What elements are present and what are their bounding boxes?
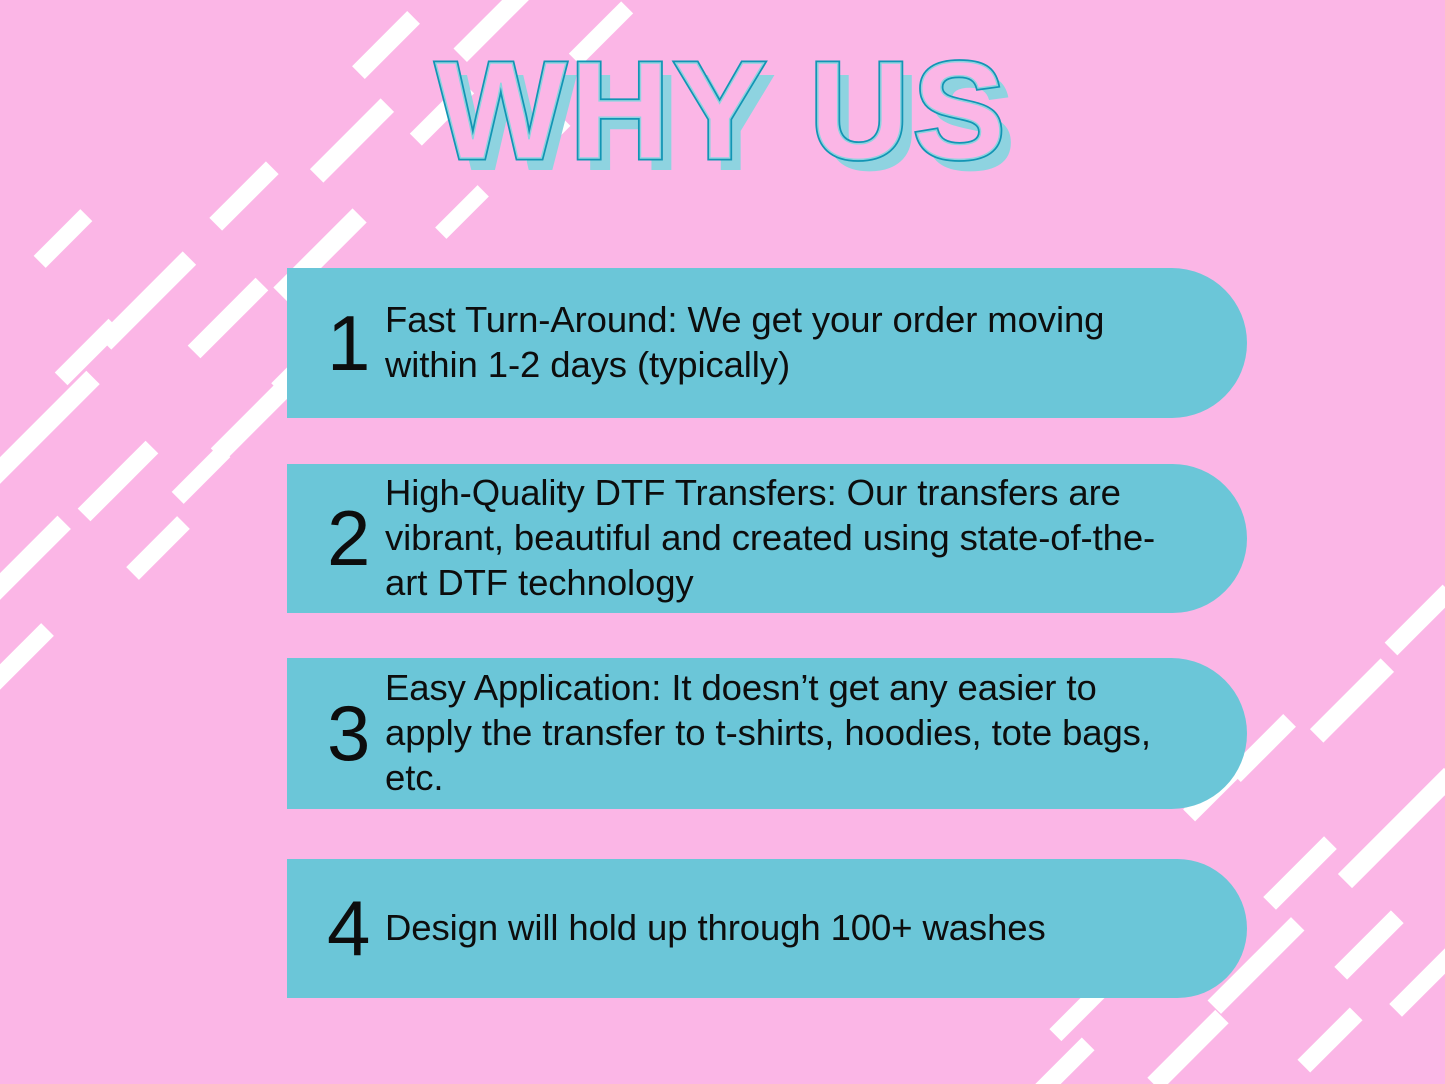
benefits-list: 1 Fast Turn-Around: We get your order mo… [287,268,1247,998]
dash-stripe [1147,1009,1228,1084]
list-item-text: High-Quality DTF Transfers: Our transfer… [385,471,1187,606]
list-item: 4 Design will hold up through 100+ washe… [287,859,1247,998]
list-item-text: Fast Turn-Around: We get your order movi… [385,298,1187,388]
list-item: 1 Fast Turn-Around: We get your order mo… [287,268,1247,418]
dash-stripe [1385,585,1445,656]
dash-stripe [188,278,269,359]
dash-stripe [55,319,121,385]
list-item-number: 1 [327,308,385,378]
dash-stripe [1334,910,1403,979]
dash-stripe [1263,836,1337,910]
list-item-number: 4 [327,893,385,963]
page-title-inner-stroke: WHY US [0,36,1445,186]
dash-stripe [1310,658,1394,742]
dash-stripe [0,370,100,490]
dash-stripe [1338,768,1445,888]
list-item: 2 High-Quality DTF Transfers: Our transf… [287,464,1247,613]
list-item-number: 2 [327,503,385,573]
dash-stripe [172,445,231,504]
dash-stripe [98,251,196,349]
dash-stripe [0,623,54,701]
dash-stripe [34,209,93,268]
dash-stripe [0,515,71,605]
page-title: WHY US WHY US WHY US [0,36,1445,196]
dash-stripe [1297,1007,1362,1072]
dash-stripe [1389,943,1445,1017]
dash-stripe [1029,1037,1094,1084]
list-item: 3 Easy Application: It doesn’t get any e… [287,658,1247,809]
list-item-number: 3 [327,698,385,768]
list-item-text: Design will hold up through 100+ washes [385,906,1187,951]
dash-stripe [126,516,190,580]
list-item-text: Easy Application: It doesn’t get any eas… [385,666,1187,801]
dash-stripe [78,441,159,522]
poster-canvas: WHY US WHY US WHY US 1 Fast Turn-Around:… [0,0,1445,1084]
